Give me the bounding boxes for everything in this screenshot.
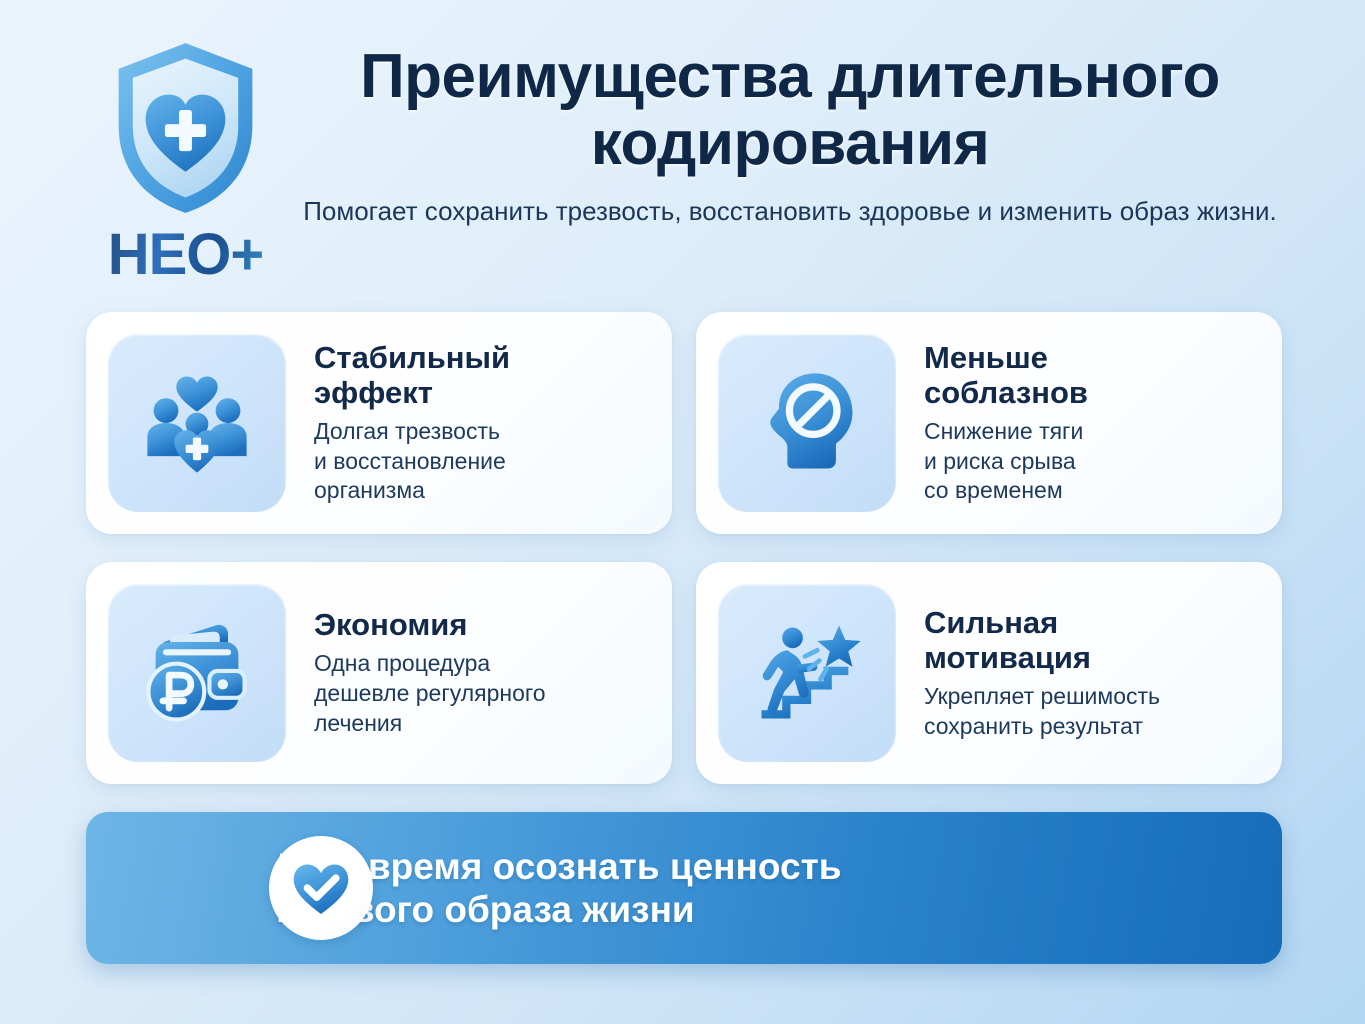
brand-logo: HEO+ — [78, 38, 293, 284]
benefit-card-savings: Экономия Одна процедура дешевле регулярн… — [86, 562, 672, 784]
icon-tile — [718, 334, 896, 512]
benefit-card-grid: Стабильный эффект Долгая трезвость и вос… — [86, 312, 1282, 784]
page-subtitle: Помогает сохранить трезвость, восстанови… — [300, 194, 1280, 229]
card-title: Стабильный эффект — [314, 340, 644, 410]
card-text: Меньше соблазнов Снижение тяги и риска с… — [896, 340, 1260, 507]
card-text: Стабильный эффект Долгая трезвость и вос… — [286, 340, 650, 507]
person-climbing-stairs-star-icon — [745, 611, 869, 735]
benefit-card-stable-effect: Стабильный эффект Долгая трезвость и вос… — [86, 312, 672, 534]
card-title: Меньше соблазнов — [924, 340, 1254, 410]
icon-tile — [718, 584, 896, 762]
card-description: Одна процедура дешевле регулярного лечен… — [314, 649, 644, 739]
card-title: Экономия — [314, 607, 644, 642]
footer-banner-badge — [269, 836, 373, 940]
card-description: Укрепляет решимость сохранить результат — [924, 682, 1254, 742]
icon-tile — [108, 334, 286, 512]
card-text: Экономия Одна процедура дешевле регулярн… — [286, 607, 650, 739]
footer-banner: Даёт время осознать ценность трезвого об… — [86, 812, 1282, 964]
card-title: Сильная мотивация — [924, 605, 1254, 675]
benefit-card-strong-motivation: Сильная мотивация Укрепляет решимость со… — [696, 562, 1282, 784]
page-title: Преимущества длительного кодирования — [300, 44, 1280, 178]
family-group-heart-plus-icon — [135, 361, 259, 485]
heart-check-icon — [290, 857, 352, 919]
infographic-page: HEO+ Преимущества длительного кодировани… — [0, 0, 1365, 1024]
card-text: Сильная мотивация Укрепляет решимость со… — [896, 605, 1260, 742]
title-block: Преимущества длительного кодирования Пом… — [300, 44, 1280, 229]
card-description: Долгая трезвость и восстановление органи… — [314, 417, 644, 507]
header: HEO+ Преимущества длительного кодировани… — [0, 0, 1365, 305]
shield-heart-plus-icon — [108, 38, 263, 218]
wallet-ruble-coin-icon — [135, 611, 259, 735]
head-prohibition-icon — [745, 361, 869, 485]
card-description: Снижение тяги и риска срыва со временем — [924, 417, 1254, 507]
brand-wordmark: HEO+ — [78, 226, 293, 284]
icon-tile — [108, 584, 286, 762]
benefit-card-fewer-temptations: Меньше соблазнов Снижение тяги и риска с… — [696, 312, 1282, 534]
